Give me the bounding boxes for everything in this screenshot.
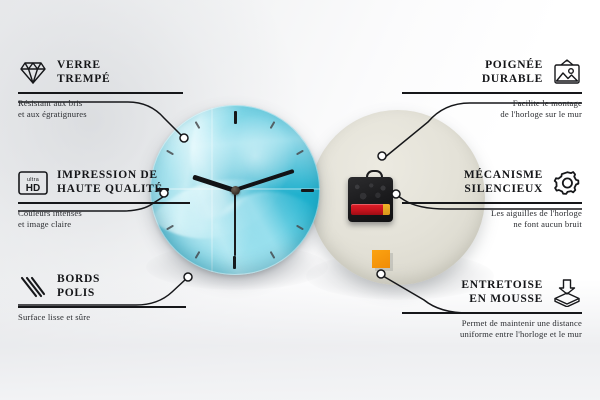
- feature-title: IMPRESSION DEHAUTE QUALITÉ: [57, 169, 163, 196]
- feature-header: VERRETREMPÉ: [18, 58, 198, 88]
- feature-header: BORDSPOLIS: [18, 272, 198, 302]
- feature-title: MÉCANISMESILENCIEUX: [464, 169, 543, 196]
- feature-divider: [402, 312, 582, 314]
- feature-entretoise-en-mousse: ENTRETOISEEN MOUSSE Permet de maintenir …: [402, 278, 582, 341]
- foam-spacer-icon: [552, 278, 582, 308]
- feature-header: ENTRETOISEEN MOUSSE: [402, 278, 582, 308]
- feature-subtitle: Facilite le montagede l'horloge sur le m…: [402, 98, 582, 121]
- polished-edges-icon: [18, 272, 48, 302]
- connector-dot-poignee: [378, 152, 386, 160]
- feature-subtitle: Surface lisse et sûre: [18, 312, 198, 324]
- feature-subtitle: Résistant aux briset aux égratignures: [18, 98, 198, 121]
- connector-dot-mecanisme: [392, 190, 400, 198]
- feature-divider: [18, 306, 186, 308]
- feature-title: ENTRETOISEEN MOUSSE: [461, 279, 543, 306]
- connector-dot-entretoise: [377, 270, 385, 278]
- feature-subtitle: Permet de maintenir une distanceuniforme…: [402, 318, 582, 341]
- diamond-icon: [18, 58, 48, 88]
- infographic-canvas: VERRETREMPÉ Résistant aux briset aux égr…: [0, 0, 600, 400]
- feature-header: POIGNÉEDURABLE: [402, 58, 582, 88]
- feature-impression-haute-qualite: ultra HD IMPRESSION DEHAUTE QUALITÉ Coul…: [18, 168, 198, 231]
- feature-subtitle: Les aiguilles de l'horlogene font aucun …: [402, 208, 582, 231]
- ultra-hd-icon: ultra HD: [18, 168, 48, 198]
- feature-divider: [402, 92, 582, 94]
- feature-title: POIGNÉEDURABLE: [482, 59, 543, 86]
- feature-verre-trempe: VERRETREMPÉ Résistant aux briset aux égr…: [18, 58, 198, 121]
- feature-title: VERRETREMPÉ: [57, 59, 110, 86]
- feature-title: BORDSPOLIS: [57, 273, 100, 300]
- feature-divider: [402, 202, 582, 204]
- svg-text:HD: HD: [26, 183, 40, 194]
- feature-subtitle: Couleurs intenseset image claire: [18, 208, 198, 231]
- hanging-frame-icon: [552, 58, 582, 88]
- feature-mecanisme-silencieux: MÉCANISMESILENCIEUX Les aiguilles de l'h…: [402, 168, 582, 231]
- feature-poignee-durable: POIGNÉEDURABLE Facilite le montagede l'h…: [402, 58, 582, 121]
- connector-dot-verre-trempe: [180, 134, 188, 142]
- feature-header: ultra HD IMPRESSION DEHAUTE QUALITÉ: [18, 168, 198, 198]
- feature-divider: [18, 92, 183, 94]
- gear-icon: [552, 168, 582, 198]
- feature-header: MÉCANISMESILENCIEUX: [402, 168, 582, 198]
- feature-divider: [18, 202, 190, 204]
- feature-bords-polis: BORDSPOLIS Surface lisse et sûre: [18, 272, 198, 323]
